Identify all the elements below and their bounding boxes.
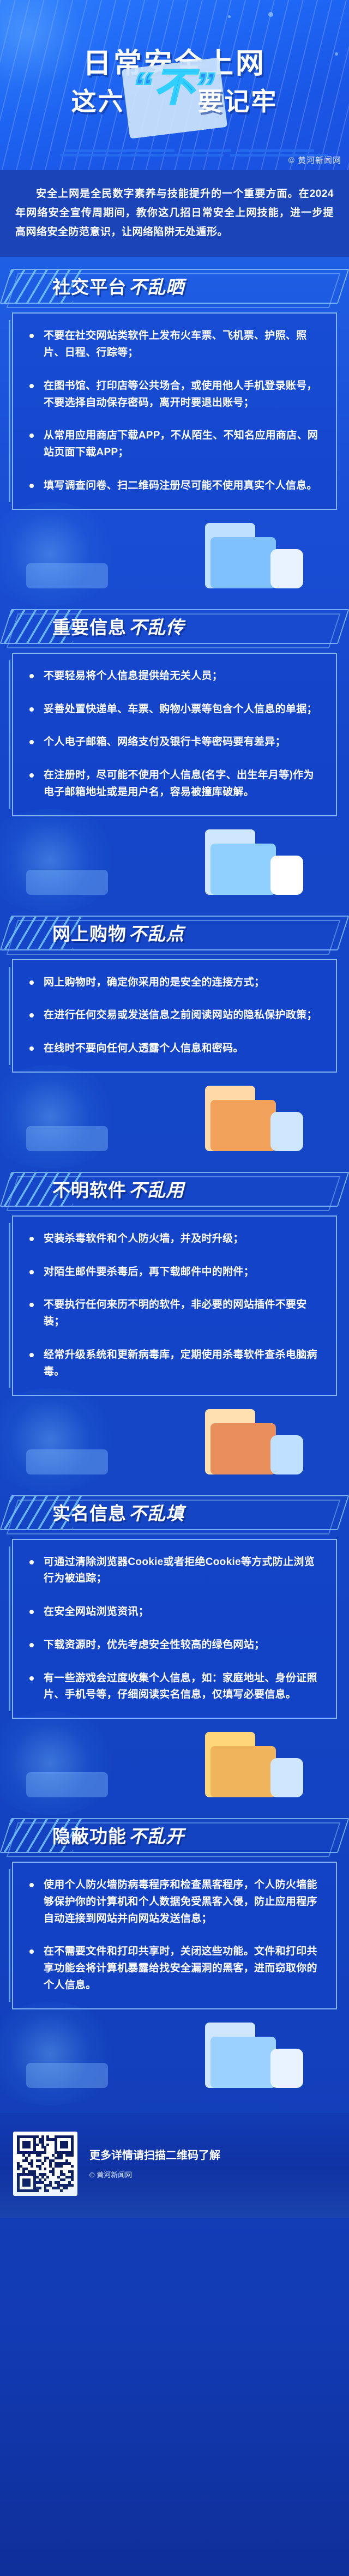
illustration-shape xyxy=(270,1435,303,1474)
section-header-5: 实名信息不乱填 xyxy=(0,1491,349,1533)
section-title-1: 社交平台不乱晒 xyxy=(52,273,184,299)
infographic-page: 日常安全上网 这六 “不” 要记牢 © 黄河新闻网 安全上网是全民数字素养与技能… xyxy=(0,0,349,2576)
bullet-item: 安装杀毒软件和个人防火墙，并及时升级； xyxy=(25,1231,324,1248)
hero-subtitle: 这六 “不” 要记牢 xyxy=(71,82,278,118)
hero-subtitle-right: 要记牢 xyxy=(197,87,278,116)
section-header-1: 社交平台不乱晒 xyxy=(0,264,349,307)
section-card-5: 可通过清除浏览器Cookie或者拒绝Cookie等方式防止浏览行为被追踪；在安全… xyxy=(12,1539,337,1719)
qr-module xyxy=(71,2154,74,2157)
qr-module xyxy=(60,2189,63,2192)
illustration-glow xyxy=(0,809,121,912)
bullet-item: 经常升级系统和更新病毒库，定期使用杀毒软件查杀电脑病毒。 xyxy=(25,1347,324,1381)
illustration-shape xyxy=(210,1746,276,1797)
section-title-4: 不明软件不乱用 xyxy=(52,1176,184,1202)
section-5: 实名信息不乱填可通过清除浏览器Cookie或者拒绝Cookie等方式防止浏览行为… xyxy=(0,1491,349,1807)
qr-module xyxy=(52,2173,55,2176)
qr-module xyxy=(28,2184,31,2187)
qr-module xyxy=(71,2178,74,2181)
section-header-3: 网上购物不乱点 xyxy=(0,911,349,954)
section-card-3: 网上购物时，确定你采用的是安全的连接方式；在进行任何交易或发送信息之前阅读网站的… xyxy=(12,959,337,1073)
section-illustration-4 xyxy=(12,1399,337,1481)
qr-module xyxy=(22,2170,25,2173)
illustration-shape xyxy=(26,1772,108,1797)
qr-module xyxy=(33,2170,36,2173)
section-card-6: 使用个人防火墙防病毒程序和检查黑客程序，个人防火墙能够保护你的计算机和个人数据免… xyxy=(12,1862,337,2009)
section-1: 社交平台不乱晒不要在社交网站类软件上发布火车票、飞机票、护照、照片、日程、行踪等… xyxy=(0,264,349,597)
section-card-1: 不要在社交网站类软件上发布火车票、飞机票、护照、照片、日程、行踪等；在图书馆、打… xyxy=(12,312,337,509)
qr-module xyxy=(60,2165,63,2168)
section-title-emphasis: 不乱晒 xyxy=(129,277,184,297)
qr-module xyxy=(63,2178,65,2181)
bullet-item: 妥善处置快递单、车票、购物小票等包含个人信息的单据； xyxy=(25,701,324,718)
section-title-emphasis: 不乱传 xyxy=(129,617,184,637)
intro-paragraph: 安全上网是全民数字素养与技能提升的一个重要方面。在2024年网络安全宣传周期间，… xyxy=(15,184,334,242)
section-title-5: 实名信息不乱填 xyxy=(52,1499,184,1525)
qr-module xyxy=(46,2189,49,2192)
bullet-item: 在进行任何交易或发送信息之前阅读网站的隐私保护政策； xyxy=(25,1007,324,1024)
footer-credit: © 黄河新闻网 xyxy=(89,2169,220,2180)
section-header-4: 不明软件不乱用 xyxy=(0,1167,349,1210)
illustration-shape xyxy=(26,1126,108,1151)
section-3: 网上购物不乱点网上购物时，确定你采用的是安全的连接方式；在进行任何交易或发送信息… xyxy=(0,911,349,1160)
bullet-item: 个人电子邮箱、网络支付及银行卡等密码要有差异； xyxy=(25,734,324,751)
bullet-list: 使用个人防火墙防病毒程序和检查黑客程序，个人防火墙能够保护你的计算机和个人数据免… xyxy=(25,1877,324,1994)
bullet-item: 不要执行任何来历不明的软件，非必要的网站插件不要安装； xyxy=(25,1297,324,1331)
illustration-shape xyxy=(270,1112,303,1151)
hero-subtitle-wrap: 这六 “不” 要记牢 xyxy=(0,82,349,118)
section-title-3: 网上购物不乱点 xyxy=(52,919,184,946)
illustration-shape xyxy=(210,844,276,895)
section-illustration-5 xyxy=(12,1722,337,1804)
illustration-glow xyxy=(0,502,121,606)
qr-module xyxy=(71,2165,74,2168)
bullet-item: 在不需要文件和打印共享时，关闭这些功能。文件和打印共享功能会将计算机暴露给找安全… xyxy=(25,1943,324,1994)
illustration-shape xyxy=(26,1449,108,1474)
bullet-item: 有一些游戏会过度收集个人信息，如：家庭地址、身份证照片、手机号等，仔细阅读实名信… xyxy=(25,1670,324,1704)
illustration-shape xyxy=(210,1423,276,1474)
bullet-item: 下载资源时，优先考虑安全性较高的绿色网站； xyxy=(25,1637,324,1654)
illustration-shape xyxy=(210,537,276,588)
section-card-2: 不要轻易将个人信息提供给无关人员；妥善处置快递单、车票、购物小票等包含个人信息的… xyxy=(12,653,337,816)
qr-module xyxy=(46,2144,49,2146)
section-title-emphasis: 不乱点 xyxy=(129,924,184,944)
section-title-plain: 网上购物 xyxy=(52,924,127,944)
section-title-emphasis: 不乱开 xyxy=(129,1826,184,1846)
section-title-plain: 隐蔽功能 xyxy=(52,1826,127,1846)
illustration-shape xyxy=(270,1758,303,1797)
bullet-item: 不要轻易将个人信息提供给无关人员； xyxy=(25,668,324,685)
qr-module xyxy=(65,2146,68,2148)
bullet-list: 安装杀毒软件和个人防火墙，并及时升级；对陌生邮件要杀毒后，再下载邮件中的附件；不… xyxy=(25,1231,324,1381)
illustration-shape xyxy=(210,1100,276,1151)
bullet-list: 不要轻易将个人信息提供给无关人员；妥善处置快递单、车票、购物小票等包含个人信息的… xyxy=(25,668,324,801)
qr-module xyxy=(44,2168,47,2170)
qr-module xyxy=(52,2138,55,2141)
bullet-item: 从常用应用商店下载APP，不从陌生、不知名应用商店、网站页面下载APP； xyxy=(25,428,324,461)
section-title-emphasis: 不乱填 xyxy=(129,1503,184,1524)
qr-module xyxy=(44,2178,47,2181)
qr-module xyxy=(17,2168,20,2170)
illustration-shape xyxy=(270,856,303,895)
section-illustration-1 xyxy=(12,513,337,595)
section-title-plain: 不明软件 xyxy=(52,1180,127,1200)
qr-module xyxy=(36,2144,39,2146)
bullet-list: 可通过清除浏览器Cookie或者拒绝Cookie等方式防止浏览行为被追踪；在安全… xyxy=(25,1554,324,1704)
section-card-4: 安装杀毒软件和个人防火墙，并及时升级；对陌生邮件要杀毒后，再下载邮件中的附件；不… xyxy=(12,1215,337,1396)
section-illustration-3 xyxy=(12,1076,337,1158)
illustration-shape xyxy=(270,2049,303,2088)
illustration-shape xyxy=(26,2063,108,2088)
bullet-list: 网上购物时，确定你采用的是安全的连接方式；在进行任何交易或发送信息之前阅读网站的… xyxy=(25,974,324,1057)
qr-module xyxy=(60,2157,63,2159)
section-4: 不明软件不乱用安装杀毒软件和个人防火墙，并及时升级；对陌生邮件要杀毒后，再下载邮… xyxy=(0,1167,349,1483)
illustration-glow xyxy=(0,1388,121,1492)
illustration-glow xyxy=(0,2002,121,2105)
section-2: 重要信息不乱传不要轻易将个人信息提供给无关人员；妥善处置快递单、车票、购物小票等… xyxy=(0,605,349,904)
hero-subtitle-left: 这六 xyxy=(71,87,125,116)
section-illustration-6 xyxy=(12,2013,337,2094)
illustration-glow xyxy=(0,1065,121,1169)
qr-module xyxy=(39,2187,41,2189)
section-6: 隐蔽功能不乱开使用个人防火墙防病毒程序和检查黑客程序，个人防火墙能够保护你的计算… xyxy=(0,1814,349,2097)
bullet-item: 不要在社交网站类软件上发布火车票、飞机票、护照、照片、日程、行踪等； xyxy=(25,328,324,362)
qr-module xyxy=(39,2168,41,2170)
qr-module xyxy=(46,2176,49,2178)
illustration-shape xyxy=(26,563,108,588)
illustration-shape xyxy=(26,870,108,895)
section-illustration-2 xyxy=(12,820,337,901)
section-header-6: 隐蔽功能不乱开 xyxy=(0,1814,349,1856)
section-header-2: 重要信息不乱传 xyxy=(0,605,349,647)
hero-credit: © 黄河新闻网 xyxy=(288,154,341,166)
qr-module xyxy=(44,2159,47,2162)
bullet-list: 不要在社交网站类软件上发布火车票、飞机票、护照、照片、日程、行踪等；在图书馆、打… xyxy=(25,328,324,494)
qr-module xyxy=(31,2165,33,2168)
section-title-plain: 社交平台 xyxy=(52,277,127,297)
qr-module xyxy=(36,2189,39,2192)
section-title-plain: 重要信息 xyxy=(52,617,127,637)
qr-module xyxy=(39,2154,41,2157)
bullet-item: 在注册时，尽可能不使用个人信息(名字、出生年月等)作为电子邮箱地址或是用户名，容… xyxy=(25,767,324,801)
qr-module xyxy=(65,2187,68,2189)
illustration-shape xyxy=(210,2037,276,2088)
bullet-item: 在安全网站浏览资讯； xyxy=(25,1604,324,1621)
bullet-item: 对陌生邮件要杀毒后，再下载邮件中的附件； xyxy=(25,1264,324,1281)
section-title-2: 重要信息不乱传 xyxy=(52,613,184,639)
illustration-shape xyxy=(270,549,303,588)
qr-module xyxy=(41,2162,44,2165)
sections-root: 社交平台不乱晒不要在社交网站类软件上发布火车票、飞机票、护照、照片、日程、行踪等… xyxy=(0,264,349,2096)
qr-module xyxy=(28,2154,31,2157)
bullet-item: 可通过清除浏览器Cookie或者拒绝Cookie等方式防止浏览行为被追踪； xyxy=(25,1554,324,1588)
illustration-glow xyxy=(0,1711,121,1815)
qr-module xyxy=(71,2184,74,2187)
section-title-plain: 实名信息 xyxy=(52,1503,127,1524)
bullet-item: 使用个人防火墙防病毒程序和检查黑客程序，个人防火墙能够保护你的计算机和个人数据免… xyxy=(25,1877,324,1927)
bullet-item: 在线时不要向任何人透露个人信息和密码。 xyxy=(25,1040,324,1057)
section-title-emphasis: 不乱用 xyxy=(129,1180,184,1200)
hero-banner: 日常安全上网 这六 “不” 要记牢 © 黄河新闻网 xyxy=(0,0,349,170)
bullet-item: 网上购物时，确定你采用的是安全的连接方式； xyxy=(25,974,324,991)
intro-block: 安全上网是全民数字素养与技能提升的一个重要方面。在2024年网络安全宣传周期间，… xyxy=(0,170,349,257)
qr-code[interactable] xyxy=(13,2132,77,2196)
section-title-6: 隐蔽功能不乱开 xyxy=(52,1822,184,1848)
qr-module xyxy=(44,2151,47,2154)
bullet-item: 填写调查问卷、扫二维码注册尽可能不使用真实个人信息。 xyxy=(25,478,324,495)
qr-module xyxy=(28,2146,31,2148)
bullet-item: 在图书馆、打印店等公共场合，或使用他人手机登录账号，不要选择自动保存密码，离开时… xyxy=(25,378,324,412)
footer: 更多详情请扫描二维码了解 © 黄河新闻网 xyxy=(0,2113,349,2218)
footer-cta: 更多详情请扫描二维码了解 xyxy=(89,2147,220,2164)
